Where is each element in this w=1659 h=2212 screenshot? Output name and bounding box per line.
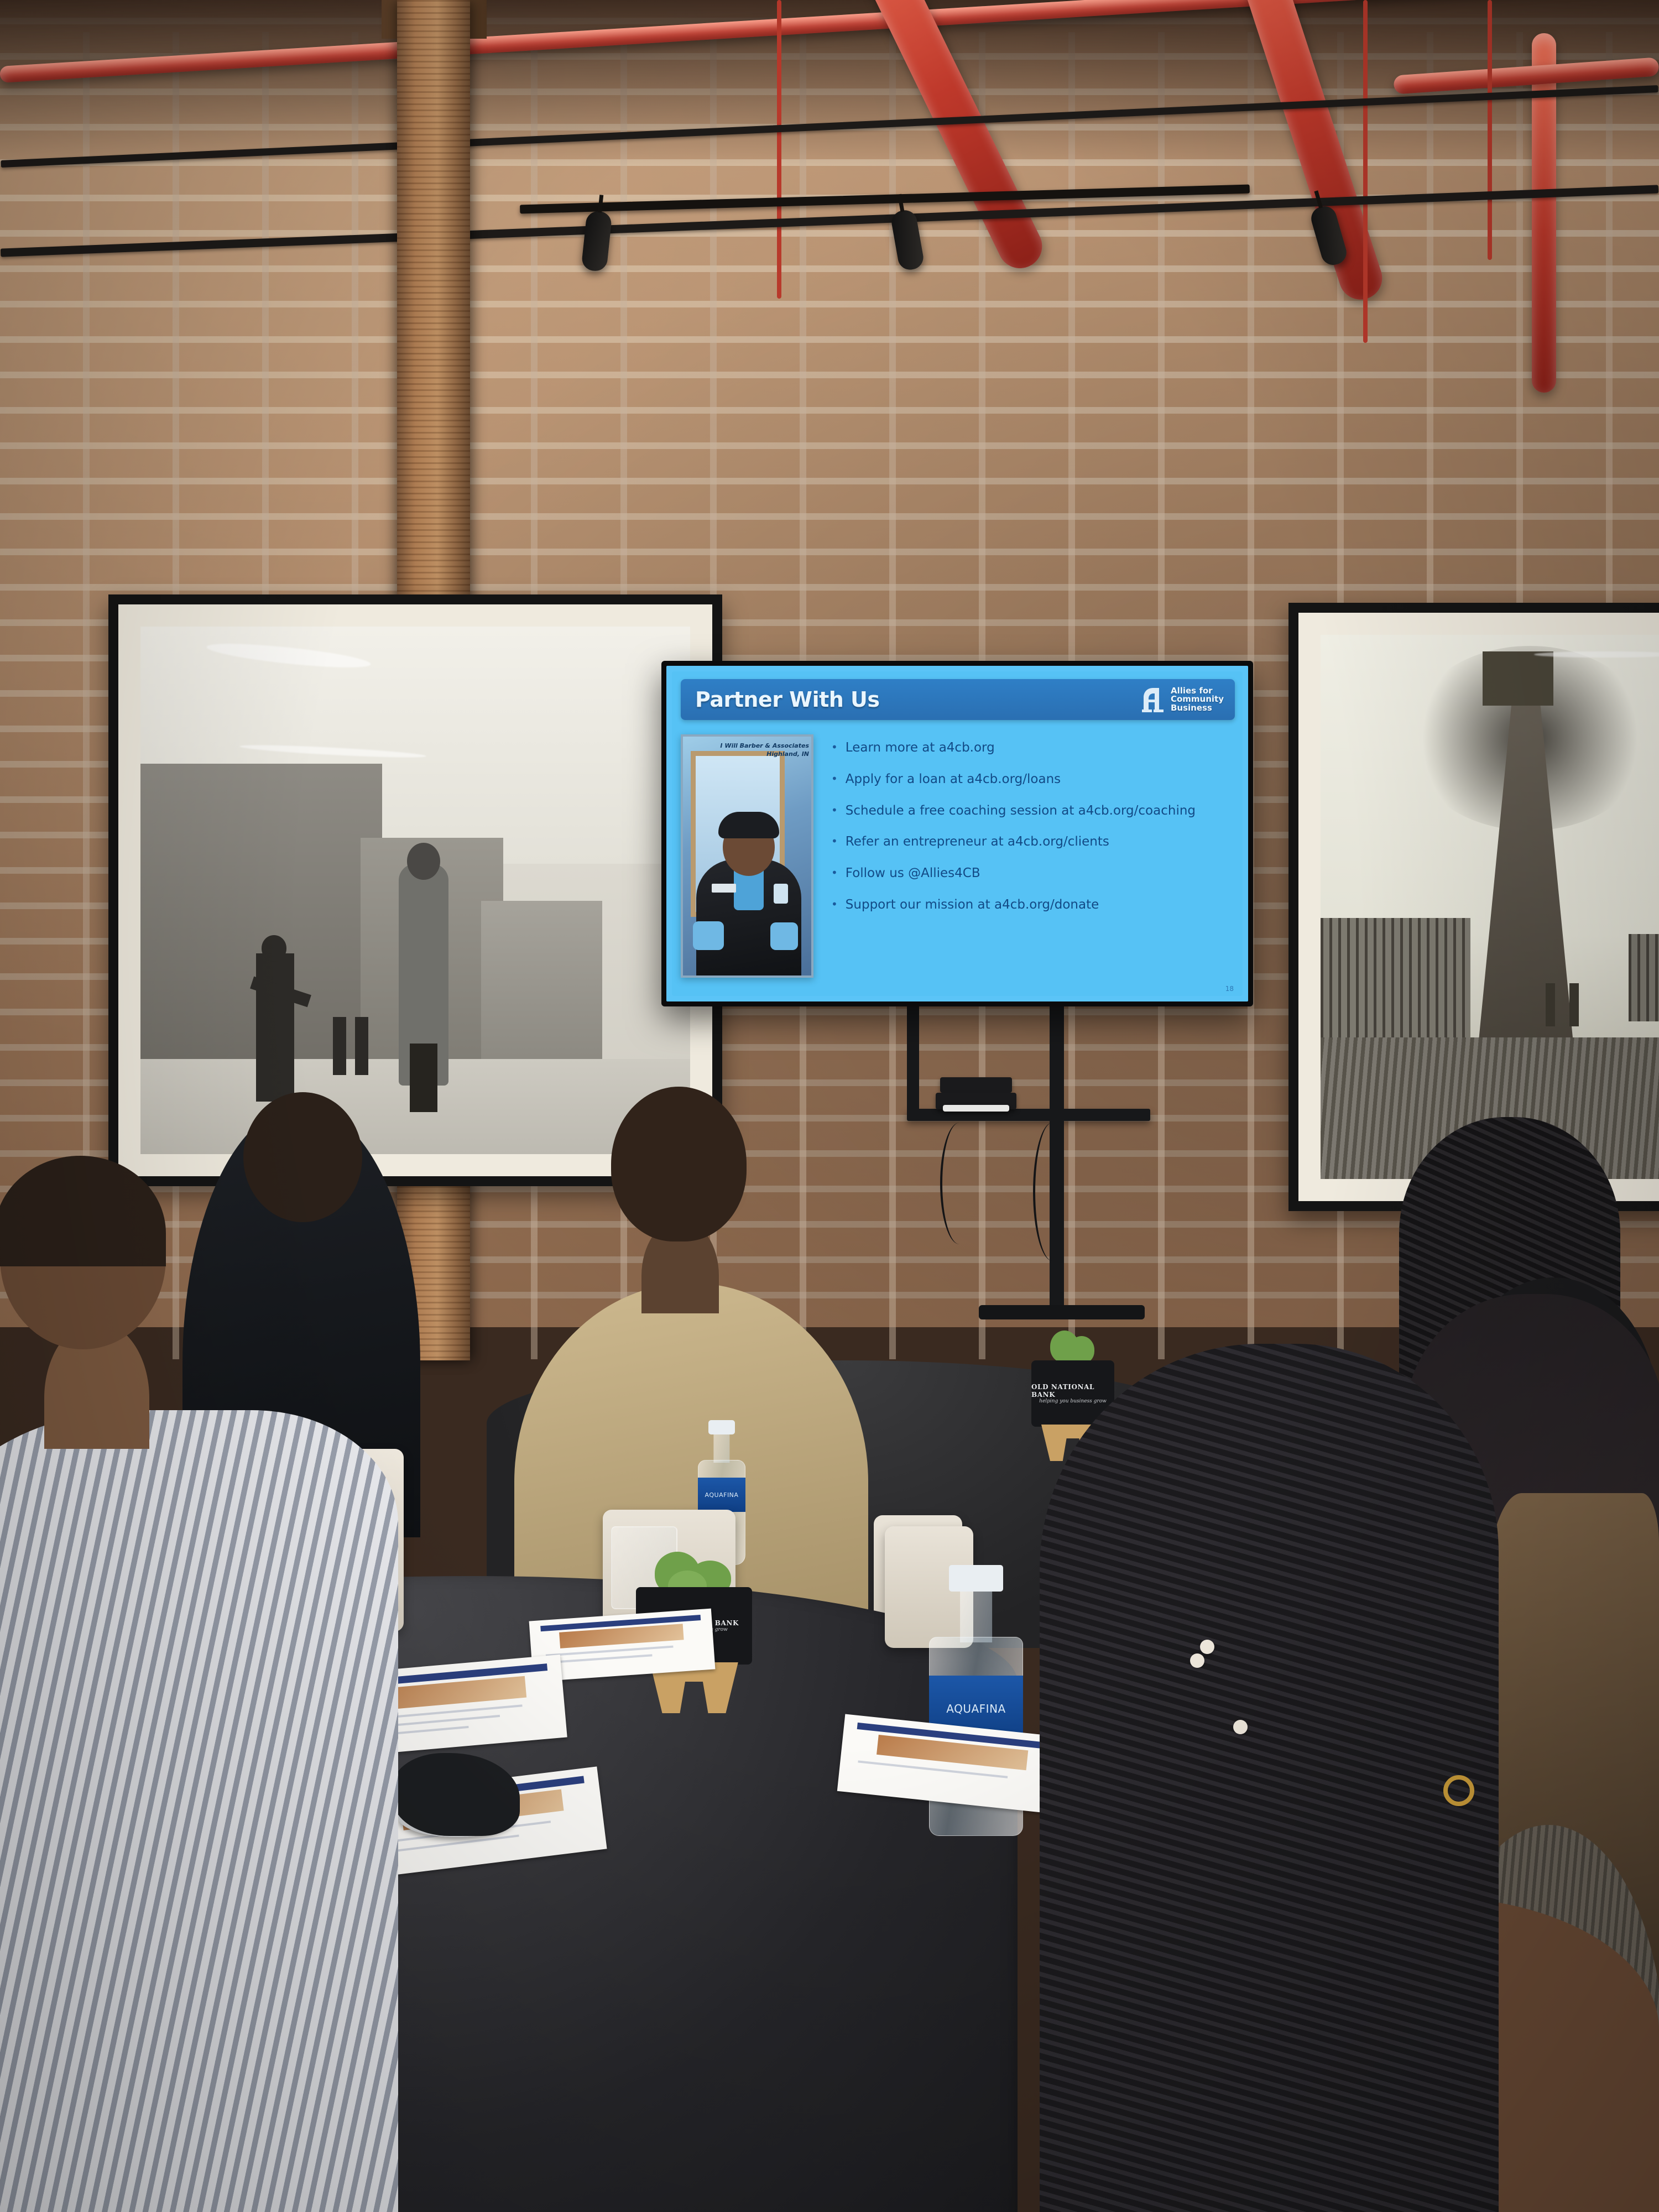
slide-bullet-text: Schedule a free coaching session at a4cb… — [846, 803, 1196, 819]
slide-bullet-item: • Schedule a free coaching session at a4… — [831, 803, 1229, 819]
photo-caption: I Will Barber & Associates Highland, IN — [720, 742, 809, 759]
bullet-marker-icon: • — [831, 803, 838, 819]
attendee-khaki-head — [611, 1087, 747, 1241]
water-bottle-brand: AQUAFINA — [705, 1491, 739, 1499]
attendee-foreground-left — [0, 1410, 398, 2212]
sprinkler-pipe-vertical — [1532, 33, 1556, 393]
hanger-rod-3 — [1488, 0, 1492, 260]
planter-brand-back: OLD NATIONAL BANK — [1031, 1383, 1114, 1399]
event-room-scene: Partner With Us Allie — [0, 0, 1659, 2212]
bullet-marker-icon: • — [831, 834, 838, 850]
tv-stand-leg-left — [907, 1006, 919, 1117]
vintage-street-scene-photograph — [140, 627, 690, 1154]
logo-line-3: Business — [1171, 704, 1224, 713]
slide-title: Partner With Us — [695, 687, 880, 712]
slide-bullet-text: Refer an entrepreneur at a4cb.org/client… — [846, 834, 1109, 850]
bullet-marker-icon: • — [831, 771, 838, 787]
client-portrait-figure — [686, 810, 812, 975]
wall-mounted-flat-screen-tv[interactable]: Partner With Us Allie — [661, 661, 1253, 1006]
planter-tagline-back: helping you business grow — [1039, 1399, 1107, 1404]
a4cb-arch-logo-icon — [1140, 686, 1166, 713]
pearl-hair-bead-1 — [1200, 1640, 1214, 1654]
pearl-hair-bead-3 — [1233, 1720, 1248, 1734]
slide-bullet-text: Support our mission at a4cb.org/donate — [846, 897, 1099, 913]
slide-number: 18 — [1225, 985, 1234, 993]
slide-bullet-item: • Support our mission at a4cb.org/donate — [831, 897, 1229, 913]
bullet-marker-icon: • — [831, 740, 838, 756]
attendee-back-left-head — [243, 1092, 362, 1222]
hanger-rod-2 — [1363, 0, 1368, 343]
organization-logo: Allies for Community Business — [1140, 686, 1224, 713]
slide-bullet-text: Follow us @Allies4CB — [846, 865, 980, 881]
presentation-slide: Partner With Us Allie — [666, 666, 1248, 1001]
slide-bullet-text: Apply for a loan at a4cb.org/loans — [846, 771, 1061, 787]
slide-client-photo: I Will Barber & Associates Highland, IN — [681, 734, 813, 978]
slide-bullet-text: Learn more at a4cb.org — [846, 740, 995, 756]
tv-stand-base — [979, 1305, 1145, 1319]
slide-bullet-item: • Apply for a loan at a4cb.org/loans — [831, 771, 1229, 787]
attendee-braids — [1040, 1344, 1499, 2212]
bullet-marker-icon: • — [831, 865, 838, 881]
pearl-hair-bead-2 — [1190, 1653, 1204, 1668]
av-receiver-box — [940, 1077, 1012, 1093]
slide-bullet-item: • Refer an entrepreneur at a4cb.org/clie… — [831, 834, 1229, 850]
remote-control[interactable] — [943, 1105, 1009, 1112]
tv-cable-left — [940, 1123, 979, 1244]
gold-hoop-earring — [1443, 1775, 1474, 1806]
framed-artwork-right — [1288, 603, 1659, 1211]
hanger-rod-1 — [777, 0, 781, 299]
slide-bullet-item: • Follow us @Allies4CB — [831, 865, 1229, 881]
photo-caption-business: I Will Barber & Associates — [720, 742, 809, 750]
framed-artwork-left — [108, 594, 722, 1186]
tv-cable-right — [1033, 1123, 1072, 1261]
logo-wordmark: Allies for Community Business — [1171, 687, 1224, 713]
slide-header-band: Partner With Us Allie — [681, 679, 1235, 720]
oil-derrick-gusher-photograph — [1321, 635, 1659, 1179]
water-bottle-brand-front: AQUAFINA — [946, 1702, 1005, 1715]
slide-bullet-item: • Learn more at a4cb.org — [831, 740, 1229, 756]
slide-bullet-list: • Learn more at a4cb.org • Apply for a l… — [828, 728, 1235, 987]
bullet-marker-icon: • — [831, 897, 838, 913]
photo-caption-location: Highland, IN — [720, 750, 809, 759]
